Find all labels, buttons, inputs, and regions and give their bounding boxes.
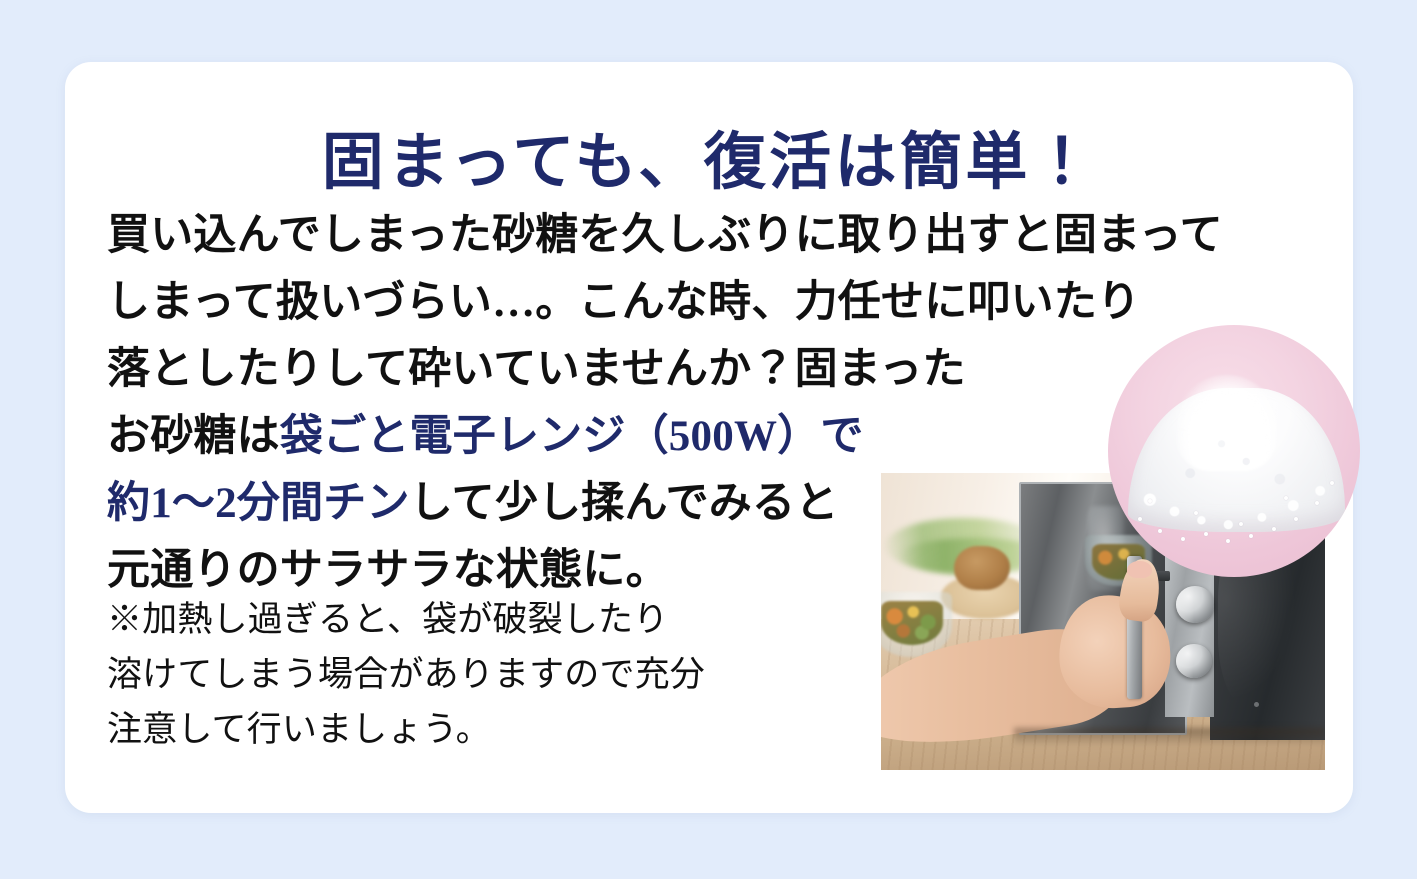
sugar-grains: [1123, 385, 1347, 531]
caution-note: ※加熱し過ぎると、袋が破裂したり 溶けてしまう場合がありますので充分 注意して行…: [107, 592, 927, 757]
body-run-highlight: 袋ごと電子レンジ（500W）で: [280, 413, 864, 460]
sugar-speck: [1158, 529, 1162, 533]
sugar-pile-circle-photo: [1108, 325, 1360, 577]
body-run: 落としたりして砕いていませんか？固まった: [107, 346, 966, 393]
sugar-speck: [1138, 517, 1142, 521]
body-line-2: しまって扱いづらい…。こんな時、力任せに叩いたり: [107, 269, 1287, 336]
bread: [954, 546, 1010, 591]
sugar-speck: [1330, 481, 1334, 485]
sugar-speck: [1204, 532, 1208, 536]
body-run: お砂糖は: [107, 413, 280, 460]
table-shadow: [1014, 728, 1325, 746]
knob-highlight: [1176, 586, 1214, 623]
sugar-speck: [1239, 522, 1243, 526]
knob-highlight: [1176, 644, 1212, 678]
note-line-2: 溶けてしまう場合がありますので充分: [107, 647, 927, 702]
sugar-speck: [1249, 534, 1253, 538]
note-line-1: ※加熱し過ぎると、袋が破裂したり: [107, 592, 927, 647]
note-line-3: 注意して行いましょう。: [107, 702, 927, 757]
body-run: しまって扱いづらい…。こんな時、力任せに叩いたり: [107, 279, 1140, 326]
content-card: 固まっても、復活は簡単！ 買い込んでしまった砂糖を久しぶりに取り出すと固まって …: [65, 62, 1353, 813]
fingernail: [1127, 561, 1151, 579]
microwave-knob-lower: [1176, 644, 1212, 678]
body-run: 買い込んでしまった砂糖を久しぶりに取り出すと固まって: [107, 212, 1223, 259]
page-canvas: 固まっても、復活は簡単！ 買い込んでしまった砂糖を久しぶりに取り出すと固まって …: [0, 0, 1417, 879]
page-title: 固まっても、復活は簡単！: [65, 131, 1353, 196]
body-line-1: 買い込んでしまった砂糖を久しぶりに取り出すと固まって: [107, 202, 1287, 269]
body-run: 元通りのサラサラな状態に。: [107, 547, 669, 594]
body-run: して少し揉んでみると: [410, 480, 839, 527]
sugar-speck: [1272, 527, 1276, 531]
body-run-highlight: 約1〜2分間チン: [107, 480, 410, 527]
body-line-3: 落としたりして砕いていませんか？固まった: [107, 336, 1287, 403]
microwave-knob-upper: [1176, 586, 1214, 623]
sugar-speck: [1181, 537, 1185, 541]
sugar-speck: [1226, 539, 1230, 543]
